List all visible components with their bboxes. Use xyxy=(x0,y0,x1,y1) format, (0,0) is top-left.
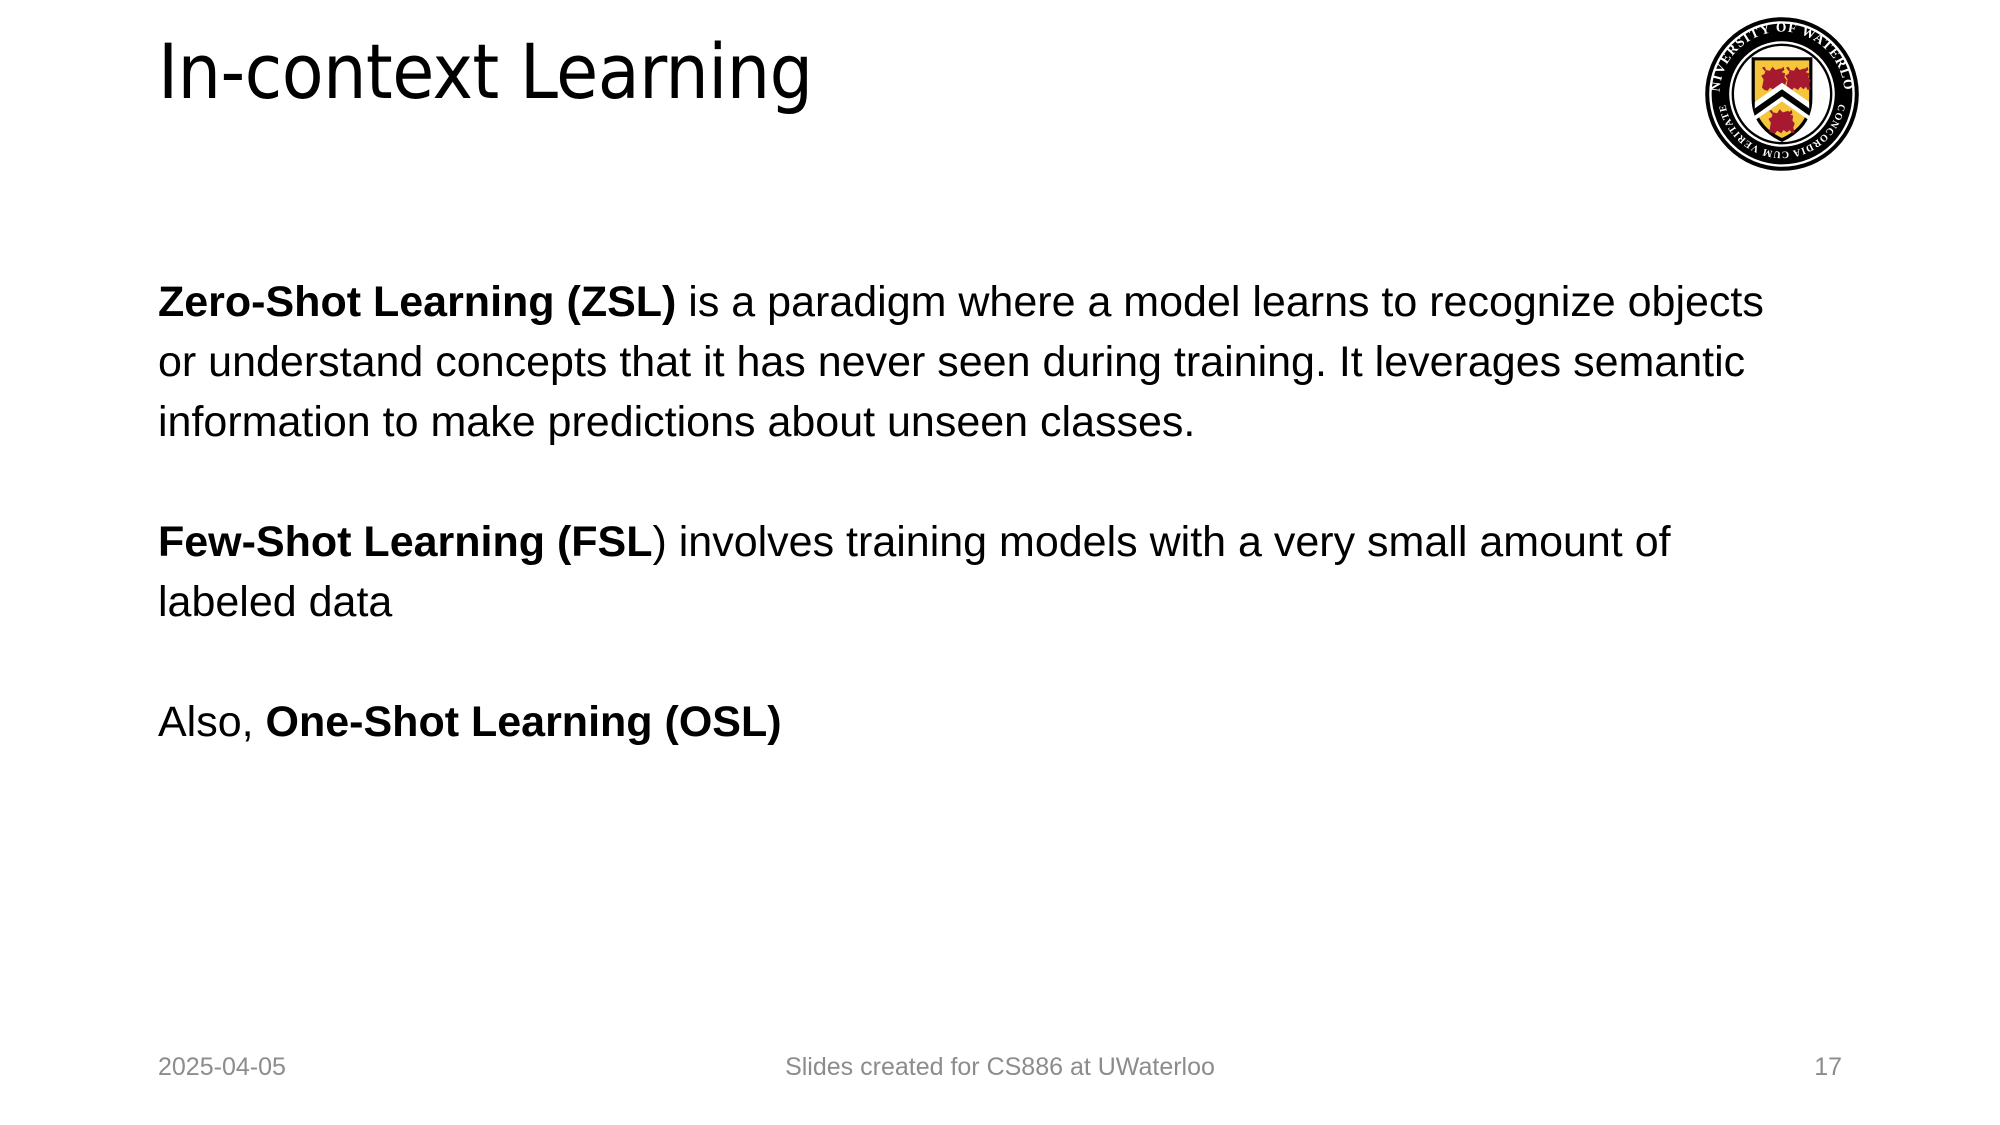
page-title: In-context Learning xyxy=(158,28,1638,115)
osl-prefix: Also, xyxy=(158,698,266,746)
body-content: Zero-Shot Learning (ZSL) is a paradigm w… xyxy=(158,272,1778,752)
lion-lower-center xyxy=(1768,109,1794,134)
zsl-term: Zero-Shot Learning (ZSL) xyxy=(158,278,676,326)
slide-page-number: 17 xyxy=(0,1055,1842,1080)
slide-canvas: In-context Learning UNIVERSITY OF WATERL… xyxy=(0,0,2000,1125)
osl-term: One-Shot Learning (OSL) xyxy=(266,698,782,746)
lion-upper-right xyxy=(1785,67,1811,91)
paragraph-zero-shot-learning: Zero-Shot Learning (ZSL) is a paradigm w… xyxy=(158,272,1778,452)
university-of-waterloo-crest-logo: UNIVERSITY OF WATERLOO CONCORDIA CUM VER… xyxy=(1702,14,1862,174)
paragraph-one-shot-learning: Also, One-Shot Learning (OSL) xyxy=(158,692,1778,752)
paragraph-few-shot-learning: Few-Shot Learning (FSL) involves trainin… xyxy=(158,512,1778,632)
fsl-term: Few-Shot Learning (FSL xyxy=(158,518,652,566)
